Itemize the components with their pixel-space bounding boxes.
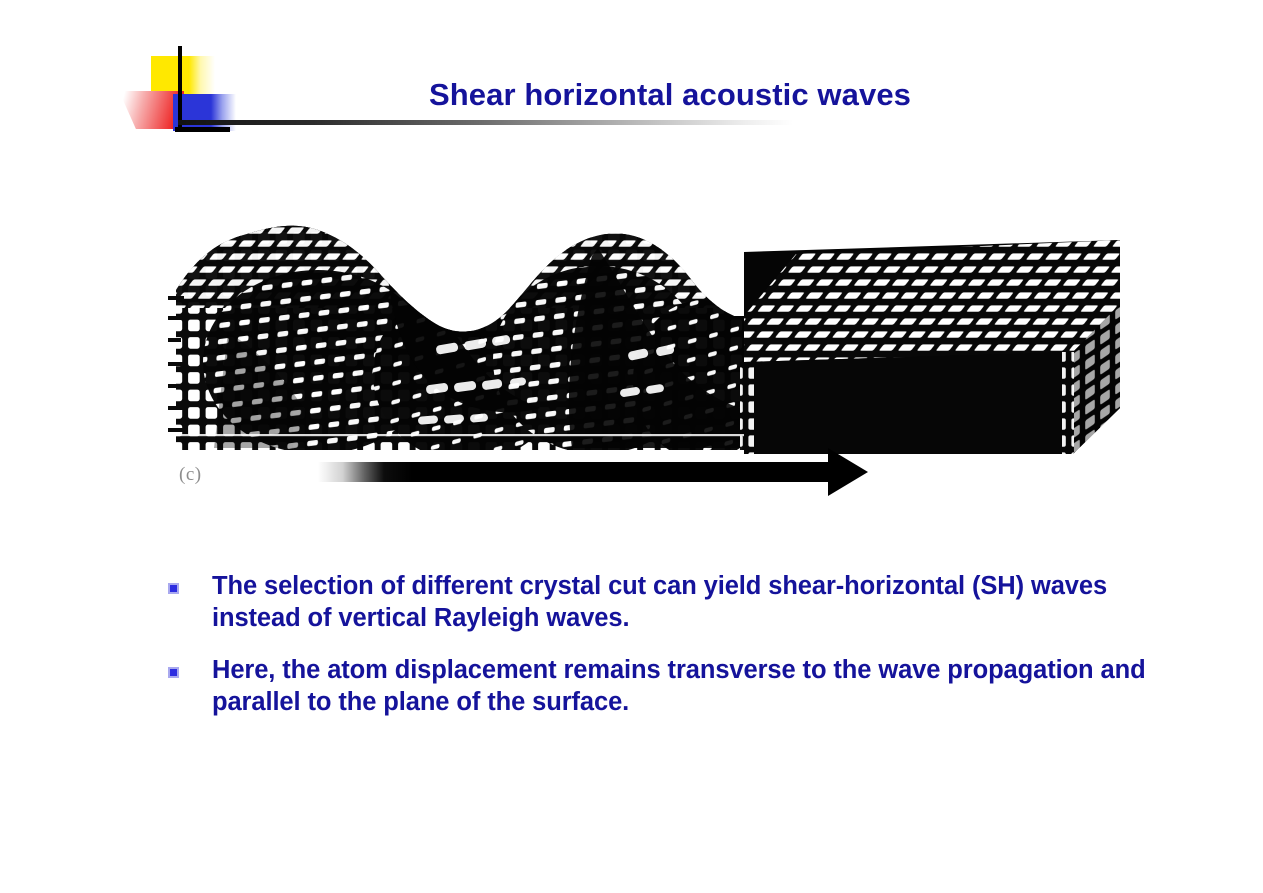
shear-lattice-illustration <box>168 212 1128 512</box>
slide: Shear horizontal acoustic waves <box>0 0 1263 893</box>
page-title: Shear horizontal acoustic waves <box>250 76 1090 114</box>
square-bullet-icon <box>168 583 179 594</box>
bullet-list: The selection of different crystal cut c… <box>168 570 1148 738</box>
yellow-square-icon <box>151 56 189 94</box>
list-item: Here, the atom displacement remains tran… <box>168 654 1148 718</box>
title-underline-rule <box>178 120 793 125</box>
propagation-direction-arrow <box>318 448 868 496</box>
yellow-fade-icon <box>189 56 215 94</box>
horizontal-rule-icon <box>175 127 230 132</box>
deformed-lattice-region <box>168 212 773 472</box>
list-item: The selection of different crystal cut c… <box>168 570 1148 634</box>
slide-title-area: Shear horizontal acoustic waves <box>0 0 1263 150</box>
bullet-text-2: Here, the atom displacement remains tran… <box>212 654 1148 718</box>
bullet-text-1: The selection of different crystal cut c… <box>212 570 1148 634</box>
lattice-figure: (c) <box>168 212 1128 512</box>
blue-fade-icon <box>211 94 236 131</box>
square-bullet-icon <box>168 667 179 678</box>
figure-part-label: (c) <box>179 464 202 486</box>
crystal-lattice-block <box>168 212 1128 472</box>
